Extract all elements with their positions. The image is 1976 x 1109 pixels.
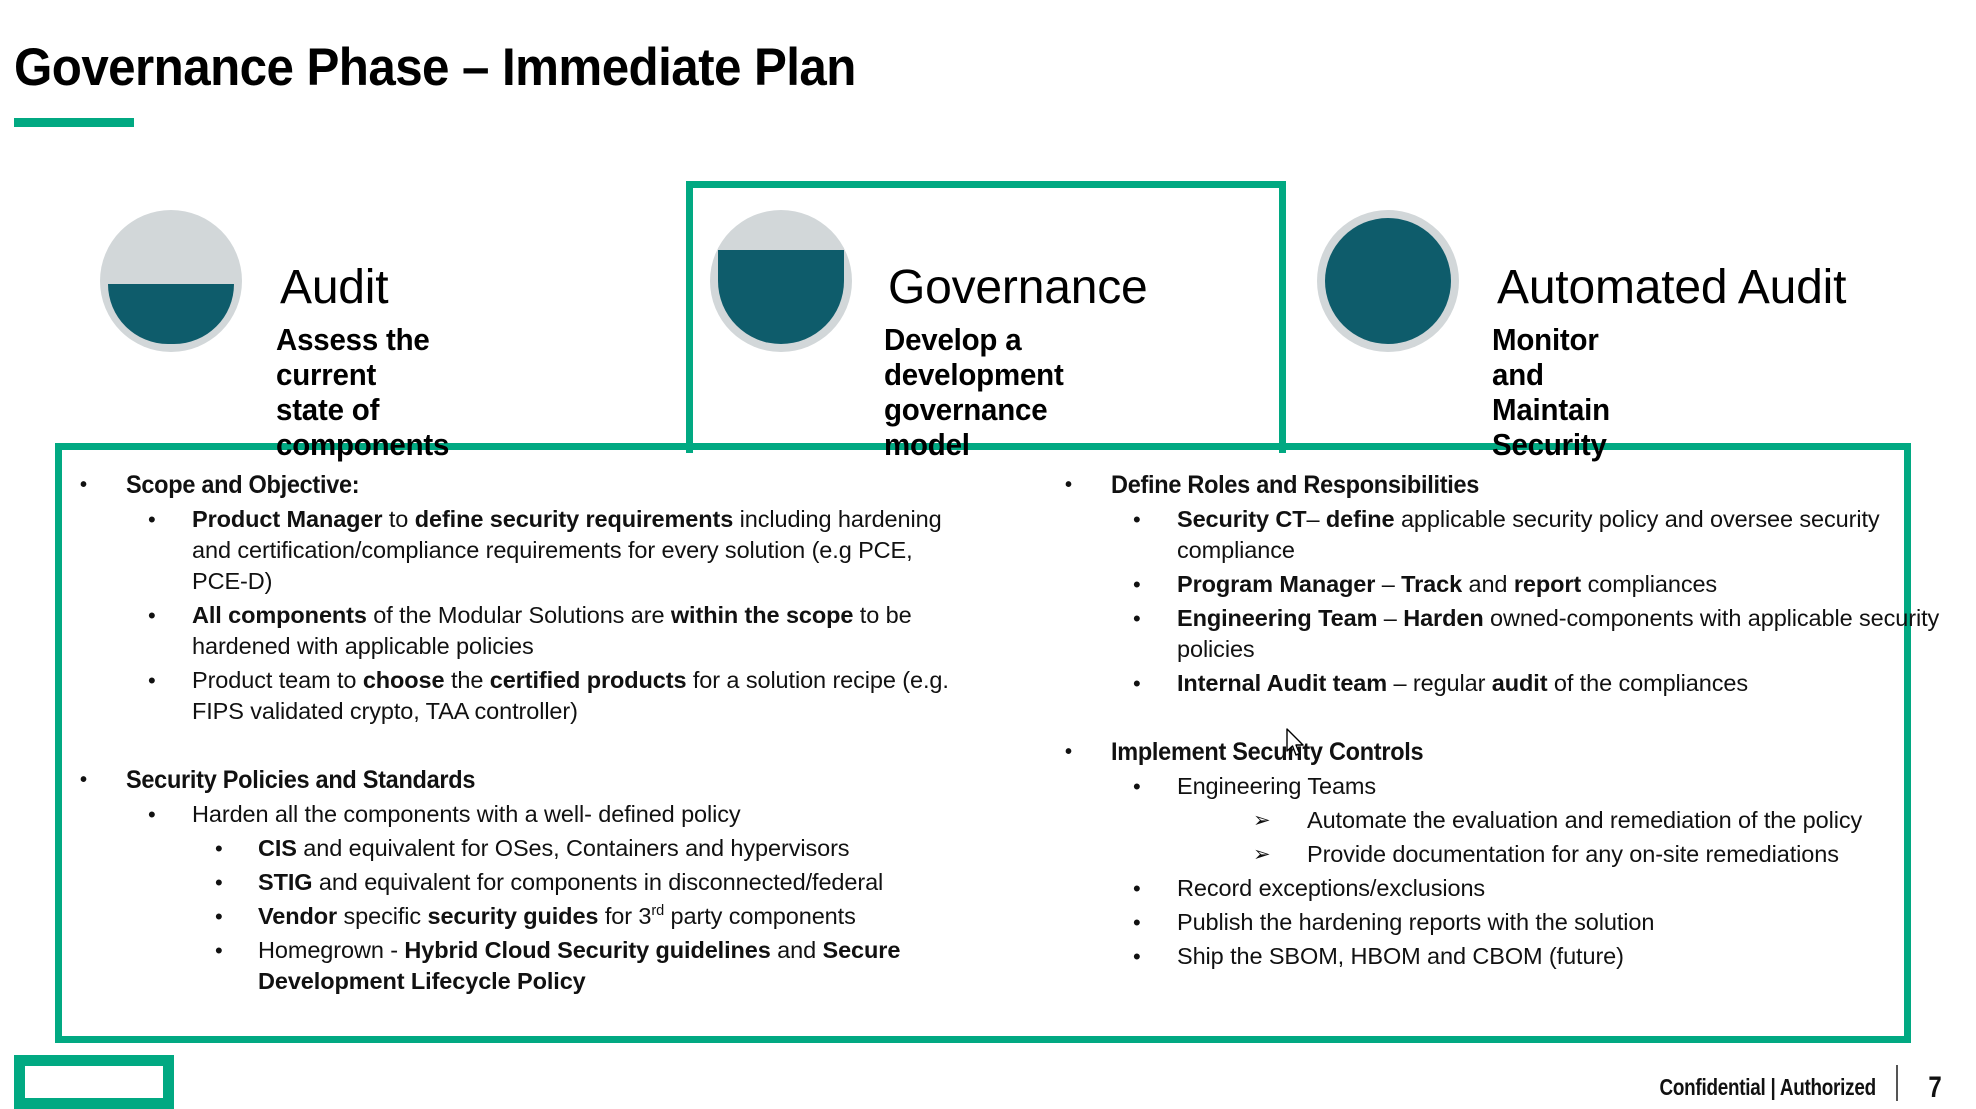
bullet-text: STIG and equivalent for components in di… <box>258 867 970 898</box>
bullet-item: •Engineering Team – Harden owned-compone… <box>1055 603 1955 665</box>
bullet-text: Homegrown - Hybrid Cloud Security guidel… <box>258 935 970 997</box>
bullet-spacer <box>1055 699 1955 735</box>
dot-bullet-icon: • <box>215 867 223 898</box>
bullet-item: •Security CT– define applicable security… <box>1055 504 1955 566</box>
dot-bullet-icon: • <box>1065 470 1072 501</box>
bullet-item: •Harden all the components with a well- … <box>70 799 970 830</box>
half-filled-circle-icon <box>100 210 242 352</box>
bullet-item: ➢Automate the evaluation and remediation… <box>1055 805 1955 836</box>
phase-automated-audit-name: Automated Audit <box>1497 260 1846 315</box>
bullet-text: All components of the Modular Solutions … <box>192 600 970 662</box>
bullet-text: Internal Audit team – regular audit of t… <box>1177 668 1955 699</box>
bullet-text: Provide documentation for any on-site re… <box>1307 839 1955 870</box>
bullet-text: Record exceptions/exclusions <box>1177 873 1955 904</box>
dot-bullet-icon: • <box>215 935 223 966</box>
full-filled-circle-icon <box>1317 210 1459 352</box>
dot-bullet-icon: • <box>80 765 87 796</box>
bullet-text: Define Roles and Responsibilities <box>1111 470 1904 501</box>
bullet-item: •Product team to choose the certified pr… <box>70 665 970 727</box>
bullet-text: Implement Security Controls <box>1111 737 1904 768</box>
bullet-item: •Scope and Objective: <box>70 470 970 501</box>
dot-bullet-icon: • <box>80 470 87 501</box>
title-accent-rule <box>14 118 134 127</box>
bullet-item: •Implement Security Controls <box>1055 737 1955 768</box>
bullet-text: CIS and equivalent for OSes, Containers … <box>258 833 970 864</box>
bullet-item: •Define Roles and Responsibilities <box>1055 470 1955 501</box>
bullet-text: Program Manager – Track and report compl… <box>1177 569 1955 600</box>
dot-bullet-icon: • <box>148 600 156 631</box>
bullet-column-left: •Scope and Objective:•Product Manager to… <box>70 468 970 997</box>
bullet-text: Ship the SBOM, HBOM and CBOM (future) <box>1177 941 1955 972</box>
bullet-item: •Vendor specific security guides for 3rd… <box>70 901 970 932</box>
dot-bullet-icon: • <box>1133 504 1141 535</box>
bullet-item: •Product Manager to define security requ… <box>70 504 970 597</box>
bullet-item: •Publish the hardening reports with the … <box>1055 907 1955 938</box>
phase-governance-subtitle: Develop a development governance model <box>884 322 1064 462</box>
dot-bullet-icon: • <box>1133 771 1141 802</box>
bullet-item: •STIG and equivalent for components in d… <box>70 867 970 898</box>
bullet-text: Scope and Objective: <box>126 470 919 501</box>
dot-bullet-icon: • <box>1133 603 1141 634</box>
bullet-item: •Internal Audit team – regular audit of … <box>1055 668 1955 699</box>
arrow-bullet-icon: ➢ <box>1253 805 1271 836</box>
bullet-text: Automate the evaluation and remediation … <box>1307 805 1955 836</box>
dot-bullet-icon: • <box>148 504 156 535</box>
confidentiality-notice: Confidential | Authorized <box>1660 1074 1876 1101</box>
bullet-text: Product Manager to define security requi… <box>192 504 970 597</box>
phase-governance-name: Governance <box>888 260 1148 315</box>
brand-logo <box>14 1055 174 1109</box>
bullet-text: Vendor specific security guides for 3rd … <box>258 901 970 932</box>
dot-bullet-icon: • <box>148 799 156 830</box>
bullet-item: •All components of the Modular Solutions… <box>70 600 970 662</box>
dot-bullet-icon: • <box>148 665 156 696</box>
bullet-item: •Ship the SBOM, HBOM and CBOM (future) <box>1055 941 1955 972</box>
dot-bullet-icon: • <box>1133 873 1141 904</box>
bullet-text: Publish the hardening reports with the s… <box>1177 907 1955 938</box>
arrow-bullet-icon: ➢ <box>1253 839 1271 870</box>
bullet-text: Product team to choose the certified pro… <box>192 665 970 727</box>
bullet-text: Engineering Team – Harden owned-componen… <box>1177 603 1955 665</box>
dot-bullet-icon: • <box>215 901 223 932</box>
bullet-text: Engineering Teams <box>1177 771 1955 802</box>
bullet-item: •Program Manager – Track and report comp… <box>1055 569 1955 600</box>
bullet-item: ➢Provide documentation for any on-site r… <box>1055 839 1955 870</box>
footer-divider <box>1896 1065 1898 1101</box>
bullet-text: Security CT– define applicable security … <box>1177 504 1955 566</box>
two-thirds-filled-circle-icon <box>710 210 852 352</box>
dot-bullet-icon: • <box>1065 737 1072 768</box>
bullet-item: •Record exceptions/exclusions <box>1055 873 1955 904</box>
bullet-item: •Homegrown - Hybrid Cloud Security guide… <box>70 935 970 997</box>
dot-bullet-icon: • <box>1133 907 1141 938</box>
dot-bullet-icon: • <box>1133 941 1141 972</box>
bullet-item: •Security Policies and Standards <box>70 765 970 796</box>
bullet-column-right: •Define Roles and Responsibilities•Secur… <box>1055 468 1955 972</box>
dot-bullet-icon: • <box>215 833 223 864</box>
phase-audit-name: Audit <box>280 260 388 315</box>
page-title: Governance Phase – Immediate Plan <box>14 40 856 96</box>
page-number: 7 <box>1929 1071 1942 1105</box>
dot-bullet-icon: • <box>1133 569 1141 600</box>
phase-automated-audit-subtitle: Monitor and Maintain Security <box>1492 322 1610 462</box>
bullet-spacer <box>70 727 970 763</box>
bullet-text: Harden all the components with a well- d… <box>192 799 970 830</box>
dot-bullet-icon: • <box>1133 668 1141 699</box>
bullet-item: •Engineering Teams <box>1055 771 1955 802</box>
bullet-text: Security Policies and Standards <box>126 765 919 796</box>
bullet-item: •CIS and equivalent for OSes, Containers… <box>70 833 970 864</box>
phase-audit-subtitle: Assess the current state of components <box>276 322 449 462</box>
